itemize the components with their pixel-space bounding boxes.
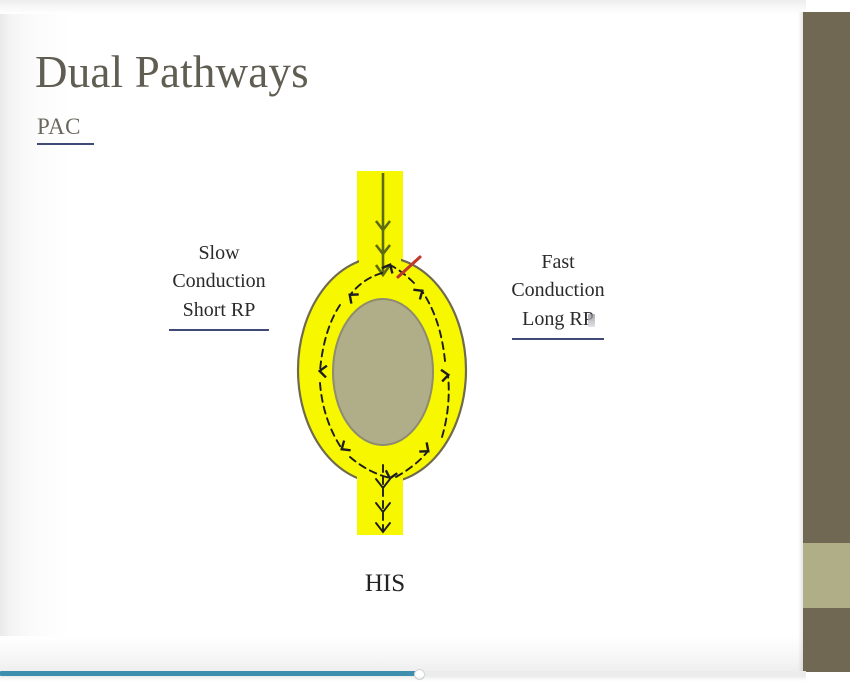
label-slow-line-1: Slow [148,239,290,267]
progress-bottom-shading [0,677,806,681]
label-slow-line-2: Conduction [148,267,290,295]
playback-progress-fill[interactable] [0,671,418,676]
label-slow-underline [169,329,269,331]
label-fast-line-3: Long RP [487,305,629,333]
av-node-dual-pathway-diagram [290,165,480,545]
slide-top-shading [0,0,806,14]
decorative-rail-dark-lower [803,608,850,672]
slide-bottom-shading [0,636,806,676]
subtitle-underline [37,143,94,145]
slide-subtitle-group: PAC [37,115,94,145]
presentation-viewer: Dual Pathways PAC Slow Conduction Short … [0,0,850,691]
slide-canvas[interactable]: Dual Pathways PAC Slow Conduction Short … [0,0,806,676]
upper-trunk-channel [357,171,403,261]
label-fast-underline [512,338,604,340]
label-slow-line-3: Short RP [148,296,290,324]
decorative-rail-light [803,543,850,608]
label-slow-pathway: Slow Conduction Short RP [148,239,290,331]
lower-trunk-channel [357,447,403,535]
label-fast-line-1: Fast [487,248,629,276]
label-fast-line-2: Conduction [487,276,629,304]
decorative-rail-dark-upper [803,12,850,543]
text-cursor-icon [588,314,595,327]
slide-subtitle: PAC [37,115,94,138]
label-fast-pathway: Fast Conduction Long RP [487,248,629,340]
page-title: Dual Pathways [35,50,309,95]
label-his: HIS [330,570,440,598]
av-node-inner-body [333,299,433,445]
